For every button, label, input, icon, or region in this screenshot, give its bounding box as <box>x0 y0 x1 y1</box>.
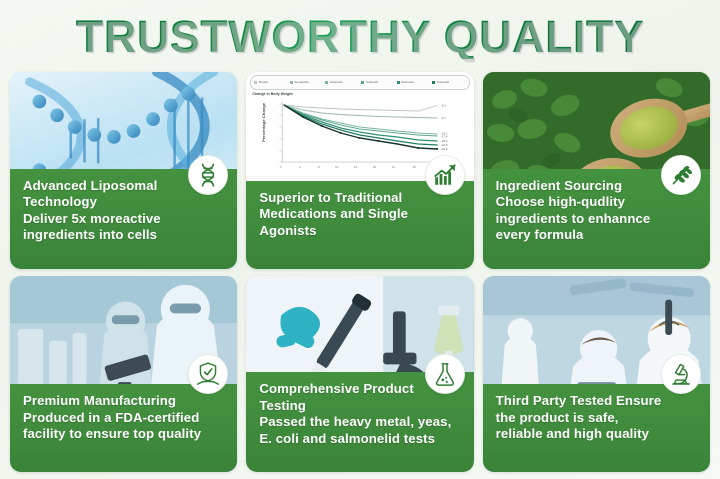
card-body-line-2: ingredients to enhannce <box>496 211 699 228</box>
legend-item: Retatrutide <box>397 81 431 84</box>
card-body-line-1: Choose high-qudlity <box>496 194 699 211</box>
card-heading-line-1: Premium Manufacturing <box>23 393 226 410</box>
svg-text:-24.2: -24.2 <box>441 147 448 151</box>
card-heading-line-2: Technology <box>23 194 226 211</box>
card-body-line-2: facility to ensure top quality <box>23 426 226 443</box>
microscope-icon-badge <box>661 354 701 394</box>
card-heading-line-1: Superior to Traditional <box>259 190 462 207</box>
card-heading-line-2: Medications and Single <box>259 206 462 223</box>
bar-chart-growth-icon <box>432 162 458 188</box>
legend-label: Retatrutide <box>366 81 379 84</box>
svg-text:-17.4: -17.4 <box>441 134 448 138</box>
microscope-icon <box>668 361 694 387</box>
legend-label: Semaglutide <box>294 81 308 84</box>
legend-item: Retatrutide <box>432 81 466 84</box>
svg-text:8: 8 <box>318 165 320 169</box>
legend-item: Placebo <box>254 81 288 84</box>
card-heading-line-1: Third Party Tested Ensure <box>496 393 699 410</box>
dna-icon <box>195 162 221 188</box>
feature-card-comprehensive-product-testing[interactable]: Comprehensive Product Testing Passed the… <box>246 276 473 473</box>
svg-text:20: 20 <box>373 165 377 169</box>
legend-label: Retatrutide <box>330 81 343 84</box>
card-body-line-1: Deliver 5x moreactive <box>23 211 226 228</box>
legend-item: Retatrutide <box>325 81 359 84</box>
svg-text:36: 36 <box>413 165 417 169</box>
feature-card-advanced-liposomal-technology[interactable]: Advanced Liposomal Technology Deliver 5x… <box>10 72 237 269</box>
feature-card-third-party-tested[interactable]: Third Party Tested Ensure the product is… <box>483 276 710 473</box>
feature-card-grid: Advanced Liposomal Technology Deliver 5x… <box>10 72 710 472</box>
svg-text:-6.7: -6.7 <box>441 116 446 120</box>
svg-text:-0.1: -0.1 <box>441 103 446 107</box>
card-body-line-1: Produced in a FDA-certified <box>23 410 226 427</box>
svg-text:16: 16 <box>354 165 358 169</box>
trustworthy-quality-infographic: { "header": { "title": "TRUSTWORTHY QUAL… <box>0 0 720 479</box>
card-heading-line-3: Agonists <box>259 223 462 240</box>
legend-label: Placebo <box>259 81 268 84</box>
legend-item: Semaglutide <box>290 81 324 84</box>
erlenmeyer-flask-icon-badge <box>425 354 465 394</box>
card-caption-band: Third Party Tested Ensure the product is… <box>483 384 710 472</box>
feature-card-ingredient-sourcing[interactable]: Ingredient Sourcing Choose high-qudlity … <box>483 72 710 269</box>
erlenmeyer-flask-icon <box>432 361 458 387</box>
card-body-line-3: every formula <box>496 227 699 244</box>
card-body-line-2: E. coli and salmonelid tests <box>259 431 462 448</box>
svg-text:0: 0 <box>281 165 283 169</box>
svg-text:12: 12 <box>335 165 339 169</box>
svg-text:Percentage Change: Percentage Change <box>262 102 267 142</box>
legend-label: Retatrutide <box>401 81 414 84</box>
leaf-branch-icon <box>668 162 694 188</box>
feature-card-premium-manufacturing[interactable]: Premium Manufacturing Produced in a FDA-… <box>10 276 237 473</box>
card-body-line-2: ingredients into cells <box>23 227 226 244</box>
page-title: TRUSTWORTHY QUALITY <box>76 14 645 59</box>
legend-label: Retatrutide <box>437 81 450 84</box>
bar-chart-growth-icon-badge <box>425 155 465 195</box>
card-body-line-1: the product is safe, <box>496 410 699 427</box>
feature-card-superior-to-traditional-medications[interactable]: Placebo Semaglutide Retatrutide Retatrut… <box>246 72 473 269</box>
card-caption-band: Premium Manufacturing Produced in a FDA-… <box>10 384 237 472</box>
svg-text:4: 4 <box>299 165 301 169</box>
header: TRUSTWORTHY QUALITY <box>0 0 720 72</box>
legend-item: Retatrutide <box>361 81 395 84</box>
svg-text:24: 24 <box>392 165 396 169</box>
leaf-branch-icon-badge <box>661 155 701 195</box>
card-body-line-1: Passed the heavy metal, yeas, <box>259 414 462 431</box>
card-heading-line-2: Testing <box>259 398 462 415</box>
chart-legend: Placebo Semaglutide Retatrutide Retatrut… <box>250 75 469 90</box>
card-body-line-2: reliable and high quality <box>496 426 699 443</box>
hand-check-shield-icon-badge <box>188 354 228 394</box>
hand-check-shield-icon <box>195 361 221 387</box>
